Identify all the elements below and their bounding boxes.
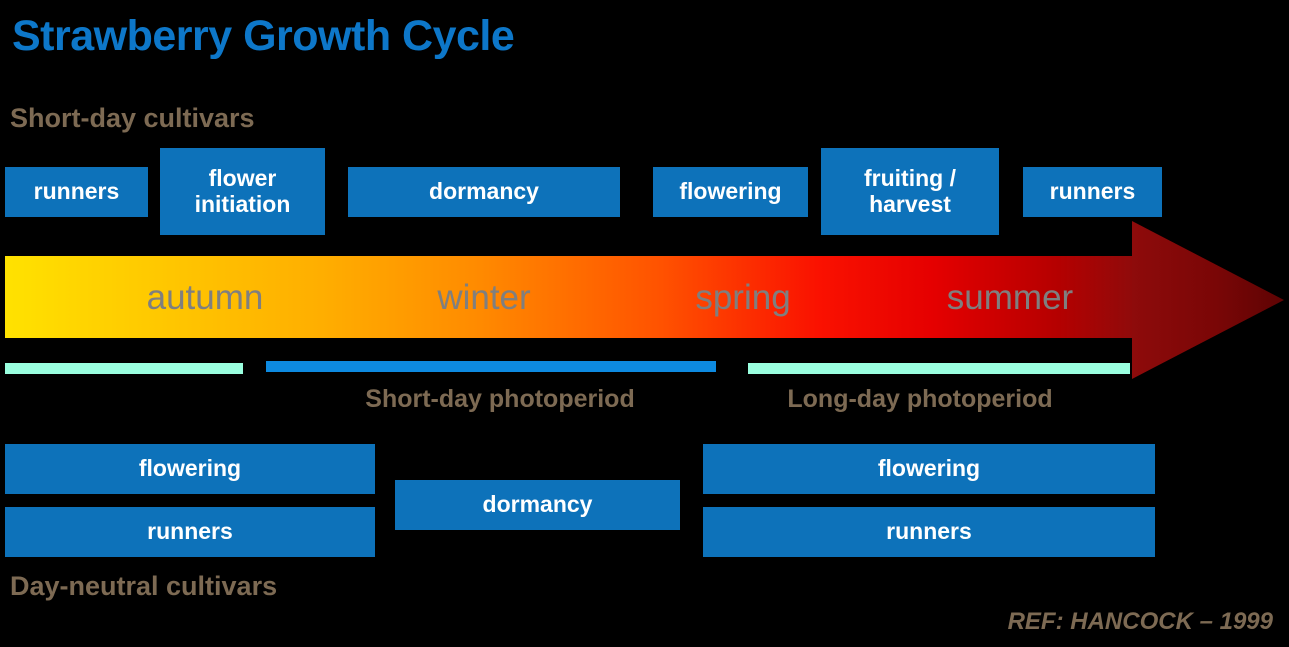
page-title: Strawberry Growth Cycle (12, 12, 514, 61)
phase-box-dn-runners-right[interactable]: runners (703, 507, 1155, 557)
short-day-photoperiod-label: Short-day photoperiod (365, 385, 634, 414)
photoperiod-bar-long-day-right (748, 363, 1130, 374)
season-label-spring: spring (695, 278, 790, 318)
photoperiod-bar-short-day (266, 361, 716, 372)
season-label-summer: summer (947, 278, 1073, 318)
phase-box-flowering-spring[interactable]: flowering (653, 167, 808, 217)
long-day-photoperiod-label: Long-day photoperiod (787, 385, 1052, 414)
phase-box-dn-flowering-right[interactable]: flowering (703, 444, 1155, 494)
season-timeline-arrow: autumn winter spring summer (0, 221, 1289, 379)
day-neutral-cultivars-label: Day-neutral cultivars (10, 571, 277, 602)
arrow-head-icon (1132, 221, 1284, 379)
phase-box-dn-dormancy[interactable]: dormancy (395, 480, 680, 530)
phase-box-dormancy-winter[interactable]: dormancy (348, 167, 620, 217)
reference-citation: REF: HANCOCK – 1999 (1008, 608, 1273, 636)
season-label-autumn: autumn (147, 278, 264, 318)
short-day-cultivars-label: Short-day cultivars (10, 103, 255, 134)
phase-box-dn-runners-left[interactable]: runners (5, 507, 375, 557)
season-label-winter: winter (437, 278, 530, 318)
phase-box-runners-autumn[interactable]: runners (5, 167, 148, 217)
diagram-canvas: Strawberry Growth Cycle Short-day cultiv… (0, 0, 1289, 647)
phase-box-runners-summer[interactable]: runners (1023, 167, 1162, 217)
photoperiod-bar-long-day-left (5, 363, 243, 374)
phase-box-dn-flowering-left[interactable]: flowering (5, 444, 375, 494)
